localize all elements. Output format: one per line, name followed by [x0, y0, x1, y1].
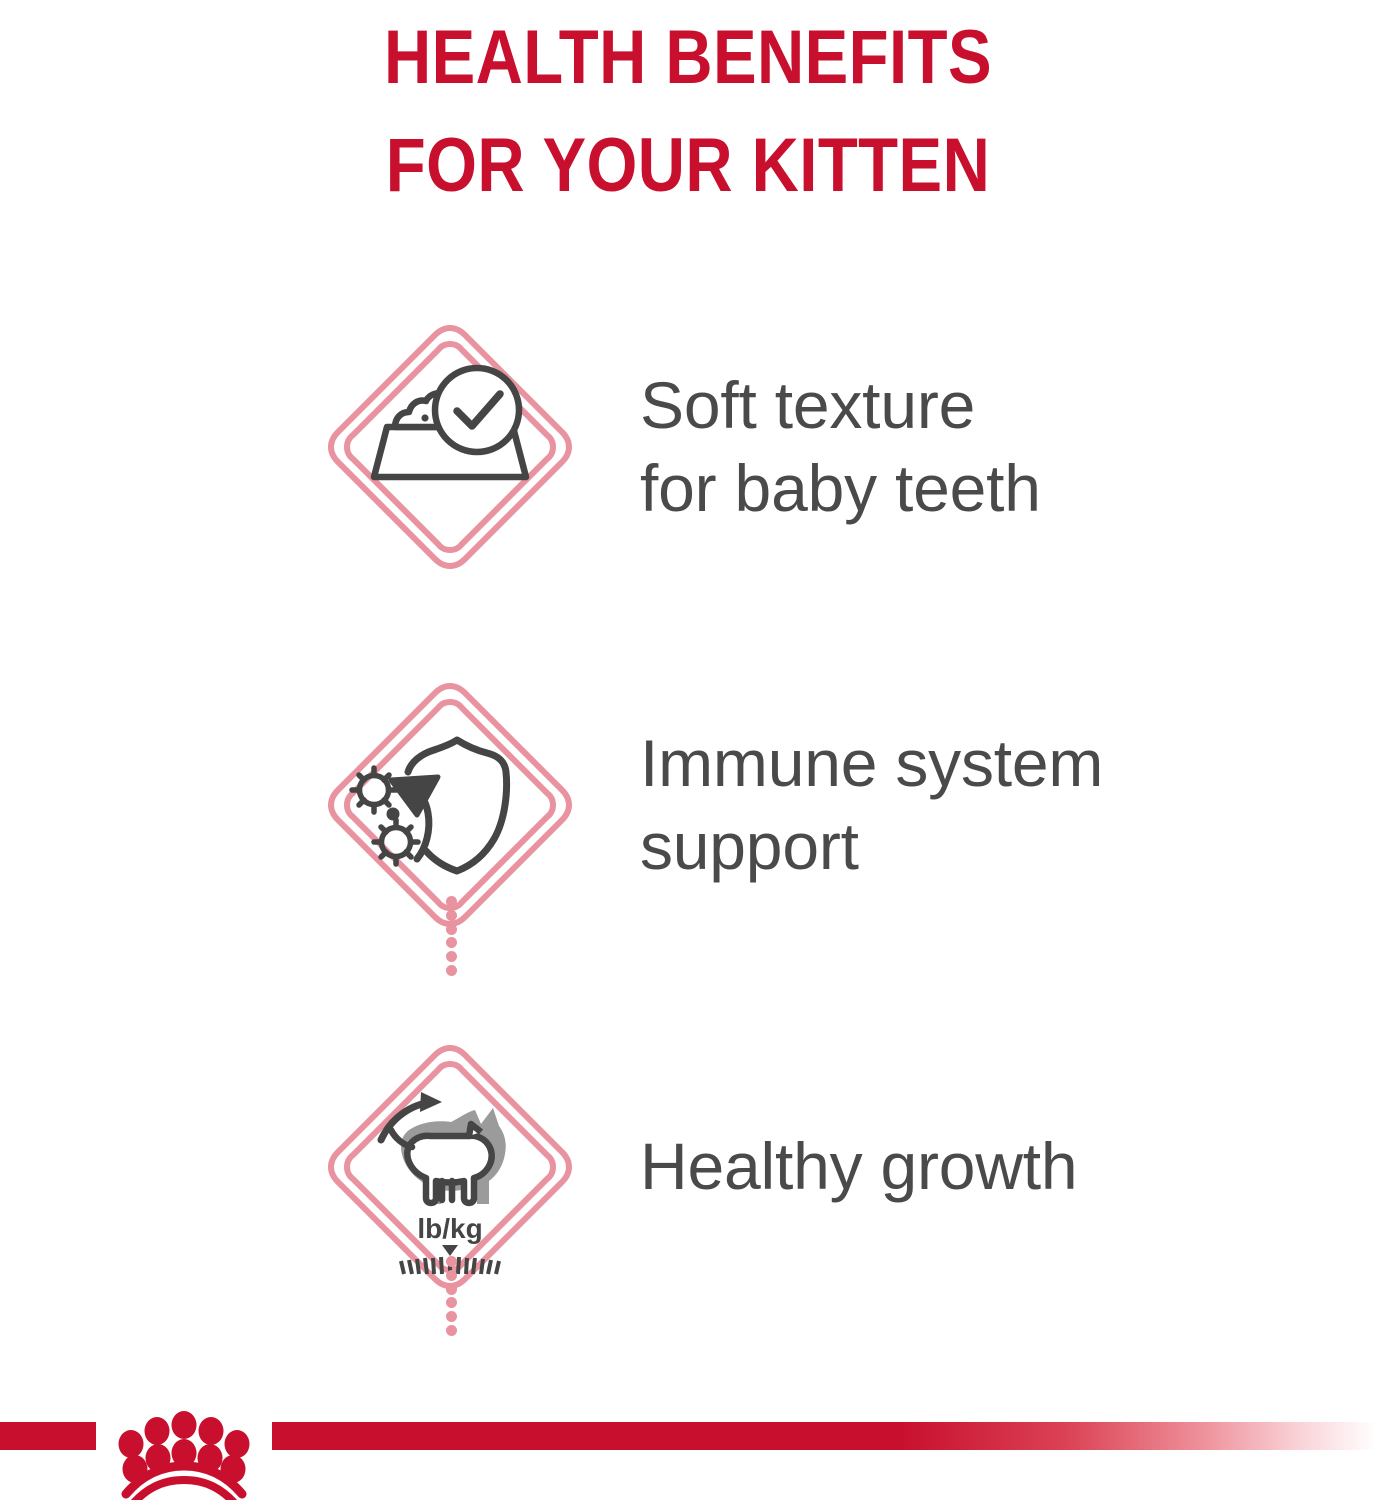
connector-dot	[446, 910, 457, 921]
health-benefits-infographic: HEALTH BENEFITS FOR YOUR KITTEN	[0, 0, 1376, 1500]
benefit-label-line-1: Healthy growth	[640, 1129, 1077, 1203]
royal-canin-crown-logo	[96, 1396, 272, 1500]
connector-dot	[446, 1297, 457, 1308]
connector-dot	[446, 965, 457, 976]
connector-dot	[446, 1270, 457, 1281]
benefit-item-soft-texture: Soft texture for baby teeth	[0, 322, 1376, 572]
connector-dots-1	[444, 896, 458, 976]
connector-dots-2	[444, 1256, 458, 1336]
footer	[0, 1396, 1376, 1500]
page-title-line-2: FOR YOUR KITTEN	[96, 112, 1279, 220]
connector-dot	[446, 951, 457, 962]
connector-dot	[446, 1311, 457, 1322]
connector-dot	[446, 1256, 457, 1267]
benefit-label-line-2: for baby teeth	[640, 451, 1041, 525]
connector-dot	[446, 924, 457, 935]
benefit-label-line-2: support	[640, 809, 859, 883]
food-bowl-check-icon	[325, 322, 575, 572]
benefit-label-soft-texture: Soft texture for baby teeth	[640, 364, 1330, 530]
connector-dot	[446, 1284, 457, 1295]
benefit-label-line-1: Soft texture	[640, 368, 975, 442]
benefit-label-line-1: Immune system	[640, 726, 1103, 800]
cat-growth-scale-icon: lb/kg	[325, 1042, 575, 1292]
page-title: HEALTH BENEFITS FOR YOUR KITTEN	[0, 4, 1376, 220]
benefit-label-immune-system: Immune system support	[640, 722, 1330, 888]
page-title-line-1: HEALTH BENEFITS	[96, 4, 1279, 112]
connector-dot	[446, 896, 457, 907]
footer-bar-left	[0, 1422, 96, 1450]
connector-dot	[446, 1325, 457, 1336]
benefit-item-healthy-growth: lb/kg	[0, 1042, 1376, 1292]
connector-dot	[446, 937, 457, 948]
scale-unit-label: lb/kg	[417, 1213, 482, 1244]
shield-germs-icon	[325, 680, 575, 930]
benefit-label-healthy-growth: Healthy growth	[640, 1125, 1330, 1208]
benefits-list: Soft texture for baby teeth	[0, 300, 1376, 1330]
footer-bar-right	[272, 1422, 1376, 1450]
benefit-item-immune-system: Immune system support	[0, 680, 1376, 930]
